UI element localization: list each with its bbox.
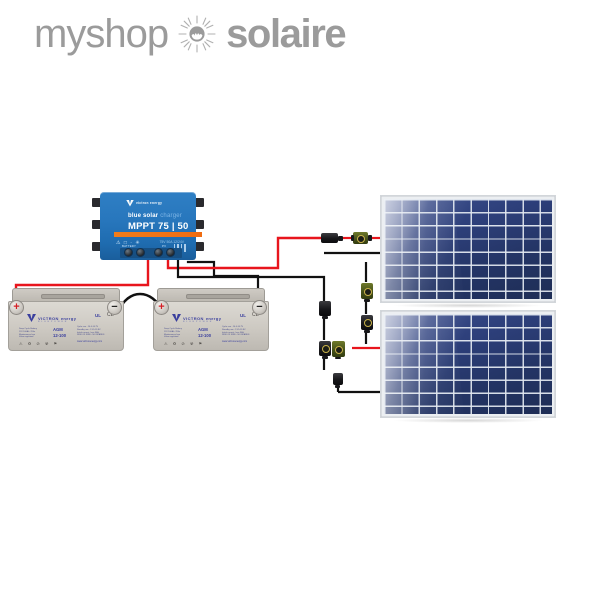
fuse-indicator-icon xyxy=(335,346,343,354)
mc4-connector-branch-black[interactable] xyxy=(317,299,333,319)
controller-orange-stripe xyxy=(114,232,202,237)
panel-cell-array xyxy=(384,314,552,414)
battery-ul-mark: UL xyxy=(240,313,246,318)
mc4-connector-inline-black[interactable] xyxy=(320,231,344,245)
battery-brand-name: VICTRON xyxy=(183,316,204,321)
connector-pin xyxy=(322,356,328,359)
solar-panel-top[interactable] xyxy=(380,195,556,303)
battery-spec-right: Cycle use : 14.4-14.7V Standby use : 13.… xyxy=(222,326,249,337)
battery-warning-icons: ⚠ ♻ ⊘ ☢ ⚑ xyxy=(164,341,204,346)
battery-model-line2: 12-100 xyxy=(198,333,211,338)
controller-line-grey: charger xyxy=(160,213,182,219)
connector-shell xyxy=(333,373,343,385)
battery-model-line1: AGM xyxy=(53,327,63,332)
battery-terminal-negative[interactable] xyxy=(124,248,133,257)
mc4-fuse-connector-olive[interactable] xyxy=(351,230,373,246)
battery-model-line1: AGM xyxy=(198,327,208,332)
battery-handle xyxy=(41,294,105,299)
panel-grid-horizontal xyxy=(384,199,552,299)
controller-body: victron energy blue solar charger MPPT 7… xyxy=(100,192,196,260)
connector-shell xyxy=(321,233,338,243)
battery-terminal-positive[interactable]: + xyxy=(9,300,24,315)
mppt-charge-controller[interactable]: victron energy blue solar charger MPPT 7… xyxy=(92,192,204,260)
connector-shell xyxy=(319,301,331,316)
fuse-indicator-icon xyxy=(322,345,330,353)
battery-terminal-negative[interactable]: − xyxy=(252,300,267,315)
diagram-canvas: myshop xyxy=(0,0,600,600)
controller-line-blue: blue solar xyxy=(128,213,158,219)
battery-brand-name2: energy xyxy=(61,316,77,321)
victron-chevron-icon xyxy=(172,314,181,322)
connector-pin xyxy=(338,236,343,241)
controller-brand-text: victron energy xyxy=(136,201,162,205)
mc4-connector-vertical-upper[interactable] xyxy=(359,281,375,302)
battery-model-line2: 12-100 xyxy=(53,333,66,338)
connector-pin xyxy=(351,235,354,241)
battery-url: www.victronenergy.com xyxy=(222,340,247,343)
battery-brand-name2: energy xyxy=(206,316,222,321)
pv-terminal-negative[interactable] xyxy=(166,248,175,257)
connector-pin xyxy=(335,357,341,359)
battery-spec-left: Deep Cycle Battery 12V 100Ah / 20hr Main… xyxy=(19,328,37,339)
battery-ul-mark: UL xyxy=(95,313,101,318)
victron-chevron-icon xyxy=(27,314,36,322)
panel-shadow xyxy=(392,303,544,308)
terminal-label-pv: PV xyxy=(162,244,166,248)
fuse-indicator-icon xyxy=(357,235,365,243)
battery-handle xyxy=(186,294,250,299)
battery-terminal-negative[interactable]: − xyxy=(107,300,122,315)
connector-pin xyxy=(368,235,372,241)
battery-spec-left: Deep Cycle Battery 12V 100Ah / 20hr Main… xyxy=(164,328,182,339)
connector-pin xyxy=(322,316,328,319)
battery-brand-subline: B L U E P O W E R xyxy=(38,321,67,323)
panel-cell-array xyxy=(384,199,552,299)
fuse-indicator-icon xyxy=(364,288,372,296)
controller-model-label: MPPT 75 | 50 xyxy=(128,221,189,232)
battery-spec-right: Cycle use : 14.4-14.7V Standby use : 13.… xyxy=(77,326,104,337)
battery-warning-icons: ⚠ ♻ ⊘ ☢ ⚑ xyxy=(19,341,59,346)
connector-pin xyxy=(364,330,370,333)
panel-shadow xyxy=(392,418,544,423)
pv-terminal-positive[interactable] xyxy=(154,248,163,257)
battery-brand-name: VICTRON xyxy=(38,316,59,321)
battery-right[interactable]: VICTRON energy B L U E P O W E R AGM 12-… xyxy=(151,288,269,350)
solar-panel-bottom[interactable] xyxy=(380,310,556,418)
fuse-indicator-icon xyxy=(364,319,372,327)
battery-brand-subline: B L U E P O W E R xyxy=(183,321,212,323)
battery-left[interactable]: VICTRON energy B L U E P O W E R AGM 12-… xyxy=(6,288,124,350)
mc4-connector-vertical-lower[interactable] xyxy=(359,313,375,333)
battery-url: www.victronenergy.com xyxy=(77,340,102,343)
victron-logo-icon: victron energy xyxy=(126,199,172,207)
controller-product-line: blue solar charger xyxy=(128,213,198,219)
panel-grid-horizontal xyxy=(384,314,552,414)
battery-terminal-positive[interactable]: + xyxy=(154,300,169,315)
victron-chevron-icon xyxy=(126,200,134,207)
mc4-connector-bottom-stub[interactable] xyxy=(331,372,345,388)
connector-pin xyxy=(335,385,340,388)
battery-terminal-positive[interactable] xyxy=(136,248,145,257)
connector-pin xyxy=(364,299,370,302)
mc4-connector-bottom-black[interactable] xyxy=(317,339,333,359)
